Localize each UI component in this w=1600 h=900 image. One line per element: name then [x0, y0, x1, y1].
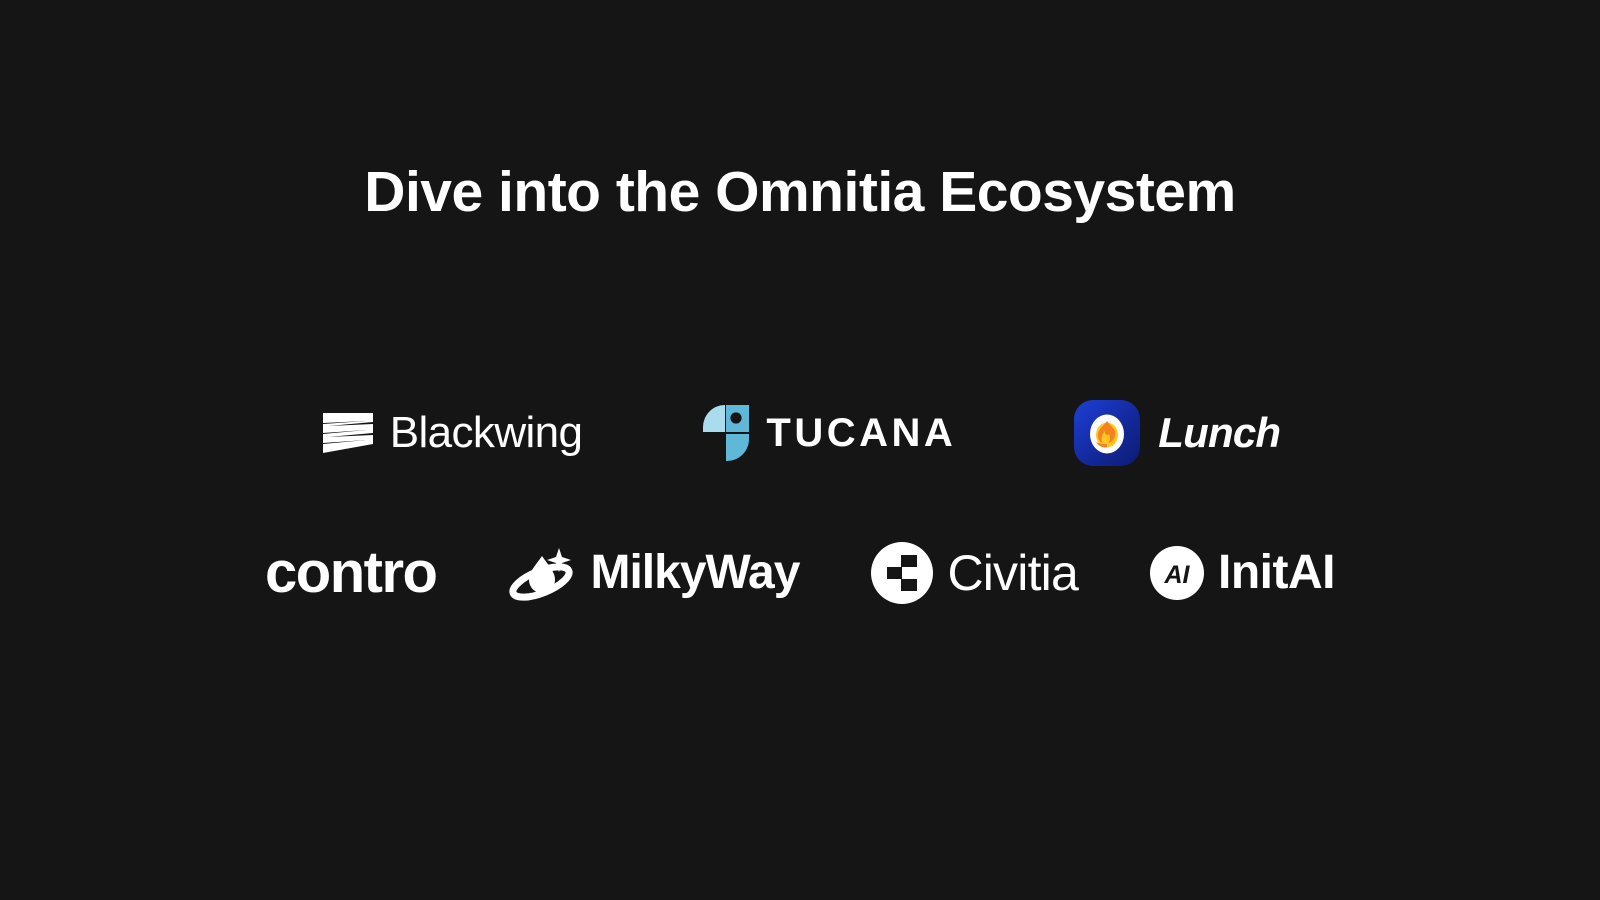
logo-milkyway[interactable]: MilkyWay	[508, 537, 799, 609]
logo-blackwing[interactable]: Blackwing	[320, 397, 583, 469]
logo-contro[interactable]: contro	[265, 537, 436, 609]
partner-logo-grid: Blackwing TUCANA	[0, 385, 1600, 621]
logo-lunch-wordmark: Lunch	[1158, 412, 1280, 454]
initai-ai-circle-icon: AI	[1150, 546, 1204, 600]
milkyway-planet-sparkle-icon	[508, 542, 574, 604]
ecosystem-section: Dive into the Omnitia Ecosystem Blackwin…	[0, 0, 1600, 900]
logo-civitia-wordmark: Civitia	[947, 548, 1078, 598]
logo-initai-wordmark: InitAI	[1218, 549, 1335, 597]
logo-milkyway-wordmark: MilkyWay	[590, 549, 799, 597]
civitia-block-circle-icon	[871, 542, 933, 604]
lunch-egg-app-icon	[1074, 400, 1140, 466]
logo-row-2: contro MilkyWay	[0, 525, 1600, 621]
initai-ai-letters: AI	[1163, 561, 1190, 589]
tucana-bird-quadrant-icon	[700, 402, 752, 464]
blackwing-zigzag-icon	[320, 411, 376, 455]
page-title: Dive into the Omnitia Ecosystem	[0, 160, 1600, 226]
logo-blackwing-wordmark: Blackwing	[390, 411, 583, 455]
logo-civitia[interactable]: Civitia	[871, 537, 1078, 609]
logo-contro-wordmark: contro	[265, 544, 436, 602]
logo-lunch[interactable]: Lunch	[1074, 397, 1280, 469]
logo-initai[interactable]: AI InitAI	[1150, 537, 1335, 609]
logo-row-1: Blackwing TUCANA	[0, 385, 1600, 481]
logo-tucana[interactable]: TUCANA	[700, 397, 956, 469]
logo-tucana-wordmark: TUCANA	[766, 413, 956, 453]
